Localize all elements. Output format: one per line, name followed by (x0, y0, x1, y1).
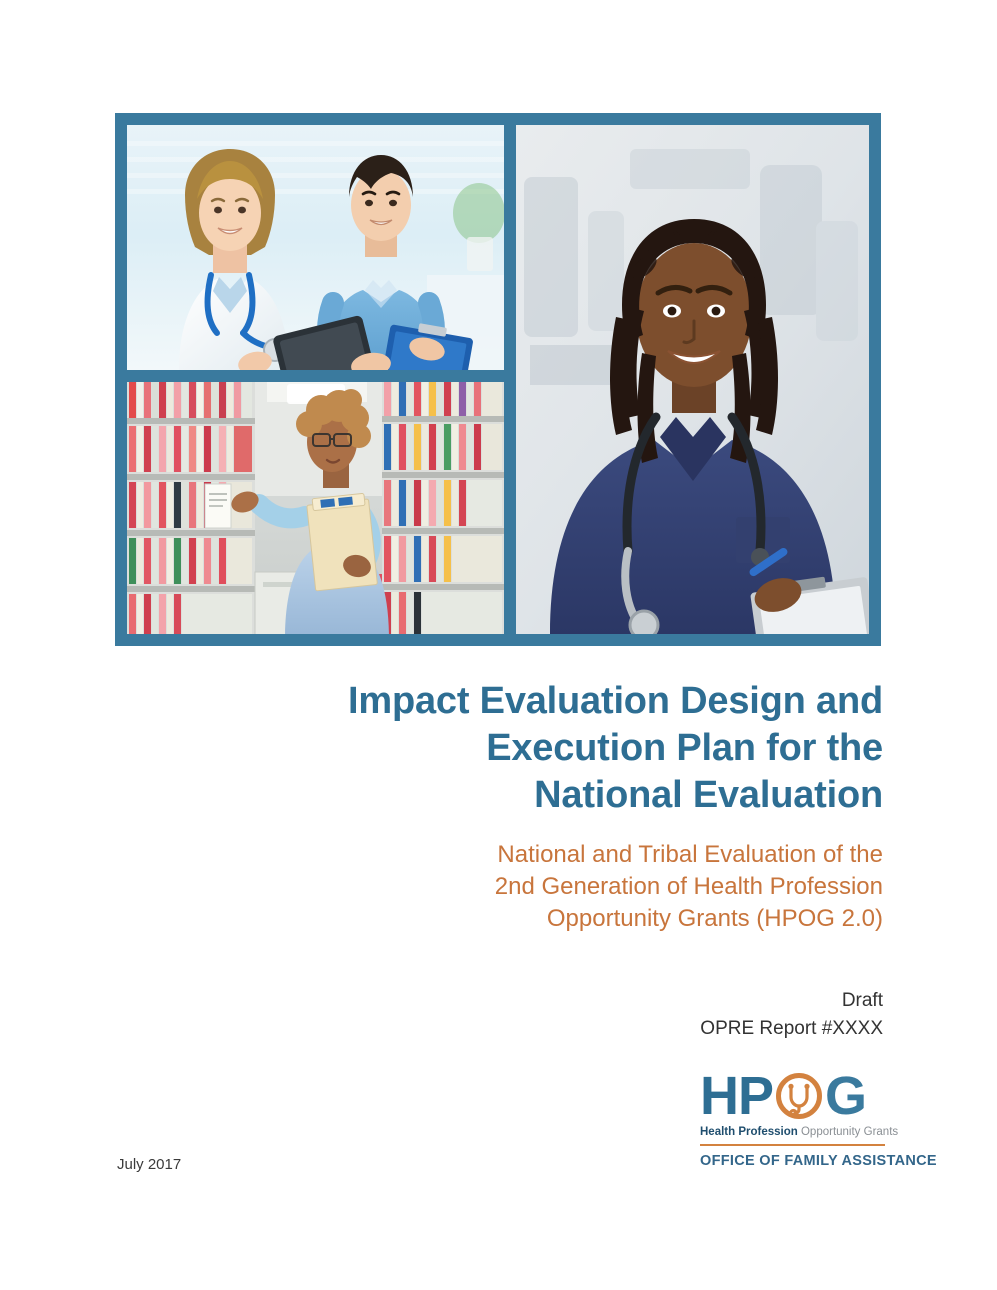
photo-collage (115, 113, 881, 646)
report-meta: Draft OPRE Report #XXXX (115, 987, 883, 1043)
hpog-wordmark: HP G (700, 1070, 885, 1122)
subtitle-line-3: Opportunity Grants (HPOG 2.0) (547, 905, 883, 932)
hpog-tagline: Health Profession Opportunity Grants (700, 1125, 885, 1139)
tagline-bold: Health Profession (700, 1126, 798, 1138)
photo-medical-records-archive (127, 382, 504, 634)
title-block: Impact Evaluation Design and Execution P… (115, 678, 883, 935)
logo-divider-rule (700, 1144, 885, 1146)
tagline-light: Opportunity Grants (801, 1126, 898, 1138)
report-number: OPRE Report #XXXX (115, 1015, 883, 1043)
publication-date: July 2017 (117, 1156, 181, 1173)
draft-label: Draft (115, 987, 883, 1015)
subtitle-line-2: 2nd Generation of Health Profession (495, 873, 883, 900)
subtitle-line-1: National and Tribal Evaluation of the (497, 841, 883, 868)
logo-letter-g: G (825, 1069, 866, 1123)
page-title: Impact Evaluation Design and Execution P… (115, 678, 883, 819)
logo-letters-hp: HP (700, 1069, 773, 1123)
photo-nurse-portrait (516, 125, 869, 634)
agency-name: OFFICE OF FAMILY ASSISTANCE (700, 1153, 885, 1169)
title-line-1: Impact Evaluation Design and (348, 680, 883, 722)
title-line-2: Execution Plan for the (486, 727, 883, 769)
photo-clinicians-tablet (127, 125, 504, 370)
page-subtitle: National and Tribal Evaluation of the 2n… (115, 839, 883, 935)
hpog-logo: HP G Health Profession Opportunity Grant… (700, 1070, 885, 1169)
title-line-3: National Evaluation (534, 774, 883, 816)
stethoscope-ring-icon (774, 1071, 824, 1121)
